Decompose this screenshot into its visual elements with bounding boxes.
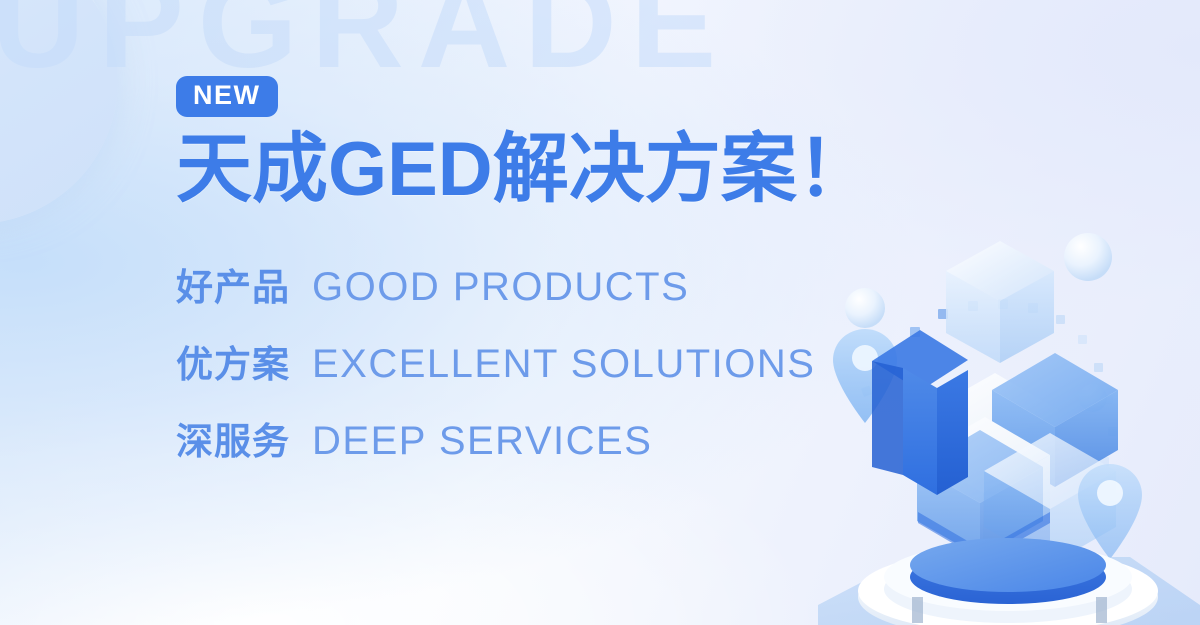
up-arrow [872,330,968,495]
location-pin-right [1078,464,1142,559]
floating-glass-cube [946,241,1054,363]
subline-cn-3: 深服务 [176,411,290,465]
upgrade-watermark: UPGRADE [0,0,730,88]
list-item: 深服务 DEEP SERVICES [176,411,873,465]
content-block: NEW 天成GED解决方案！ 好产品 GOOD PRODUCTS 优方案 EXC… [176,76,873,465]
list-item: 好产品 GOOD PRODUCTS [176,257,873,311]
subline-list: 好产品 GOOD PRODUCTS 优方案 EXCELLENT SOLUTION… [176,257,873,465]
circular-podium [818,538,1200,625]
subline-en-1: GOOD PRODUCTS [312,265,689,310]
promo-banner: UPGRADE NEW 天成GED解决方案！ 好产品 GOOD PRODUCTS… [0,0,1200,625]
subline-en-2: EXCELLENT SOLUTIONS [312,342,815,387]
page-title: 天成GED解决方案！ [176,129,873,211]
sphere-top-right [1064,233,1112,281]
new-badge: NEW [176,76,278,117]
subline-cn-2: 优方案 [176,334,290,388]
list-item: 优方案 EXCELLENT SOLUTIONS [176,334,873,388]
subline-en-3: DEEP SERVICES [312,419,652,464]
subline-cn-1: 好产品 [176,257,290,311]
